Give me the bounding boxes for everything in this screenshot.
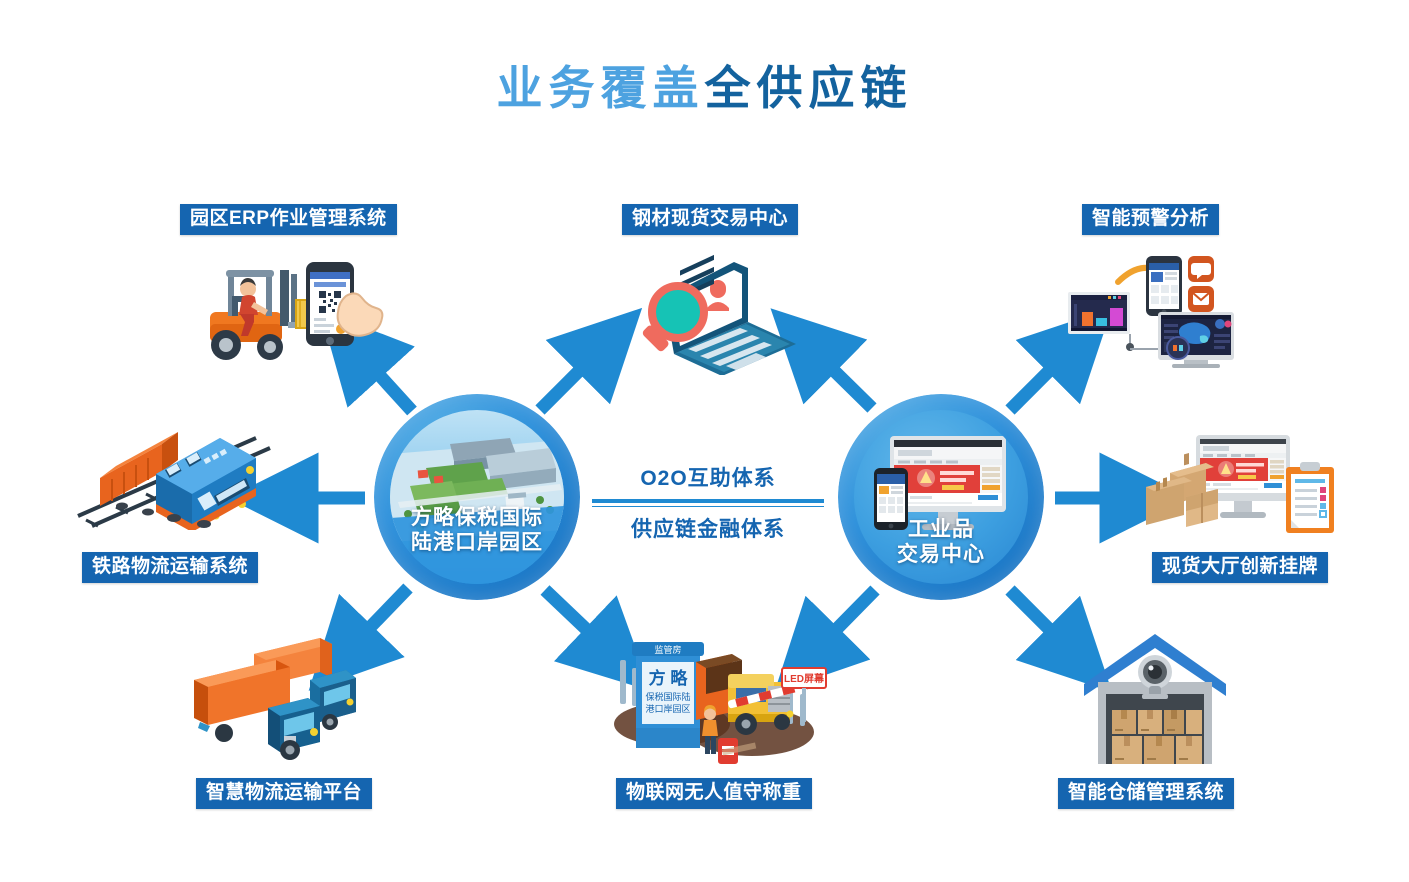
weighbridge-gate-truck-icon: 监管房 方 略 保税国际陆 港口岸园区 <box>600 628 830 768</box>
label-erp-text: 园区ERP作业管理系统 <box>190 208 387 229</box>
arrow-trade-to-steel <box>815 352 872 408</box>
arrow-trade-to-alert <box>1010 352 1068 410</box>
label-rail-logistics[interactable]: 铁路物流运输系统 <box>82 552 258 583</box>
arrow-hub-to-steel <box>540 352 598 410</box>
train-container-icon <box>70 400 290 530</box>
diagram-canvas: 业务覆盖全供应链 <box>0 0 1409 882</box>
label-smart-logistics[interactable]: 智慧物流运输平台 <box>196 778 372 809</box>
arrow-hub-to-weighing <box>545 590 606 648</box>
hub-inner <box>390 410 564 584</box>
label-steel-trading-text: 钢材现货交易中心 <box>632 208 788 229</box>
center-divider <box>592 499 824 507</box>
aerial-park-photo-icon <box>390 410 564 584</box>
laptop-magnifier-icon <box>630 250 810 375</box>
booth-line2-text: 保税国际陆 <box>645 691 690 702</box>
label-spot-hall-text: 现货大厅创新挂牌 <box>1162 556 1318 577</box>
trade-hub[interactable]: 工业品 交易中心 <box>838 394 1044 600</box>
center-text-block: O2O互助体系 供应链金融体系 <box>592 462 824 543</box>
arrow-trade-to-warehouse <box>1010 590 1068 648</box>
booth-line3-text: 港口岸园区 <box>645 703 690 714</box>
park-hub[interactable]: 方略保税国际 陆港口岸园区 <box>374 394 580 600</box>
label-alert-analysis-text: 智能预警分析 <box>1092 208 1209 229</box>
trade-hub-line2: 交易中心 <box>838 543 1044 568</box>
dashboard-alert-monitor-icon <box>1062 250 1242 370</box>
booth-brand-text: 方 略 <box>649 668 689 688</box>
label-rail-logistics-text: 铁路物流运输系统 <box>92 556 248 577</box>
trade-hub-line1: 工业品 <box>838 518 1044 543</box>
label-steel-trading[interactable]: 钢材现货交易中心 <box>622 204 798 235</box>
label-erp[interactable]: 园区ERP作业管理系统 <box>180 204 397 235</box>
label-alert-analysis[interactable]: 智能预警分析 <box>1082 204 1219 235</box>
box-trucks-icon <box>180 636 390 768</box>
forklift-qrcode-phone-icon <box>196 252 386 372</box>
label-spot-hall[interactable]: 现货大厅创新挂牌 <box>1152 552 1328 583</box>
center-bottom-text: 供应链金融体系 <box>592 513 824 543</box>
page-title-part2: 全供应链 <box>705 62 913 114</box>
label-smart-warehouse[interactable]: 智能仓储管理系统 <box>1058 778 1234 809</box>
trade-hub-text: 工业品 交易中心 <box>838 518 1044 568</box>
monitor-boxes-clipboard-icon <box>1140 425 1340 550</box>
page-title: 业务覆盖全供应链 <box>0 52 1409 118</box>
park-hub-text: 方略保税国际 陆港口岸园区 <box>374 506 580 556</box>
led-sign-text: LED屏幕 <box>784 672 825 685</box>
label-iot-weighing[interactable]: 物联网无人值守称重 <box>616 778 812 809</box>
label-iot-weighing-text: 物联网无人值守称重 <box>626 782 802 803</box>
page-title-part1: 业务覆盖 <box>497 62 705 114</box>
label-smart-warehouse-text: 智能仓储管理系统 <box>1068 782 1224 803</box>
label-smart-logistics-text: 智慧物流运输平台 <box>206 782 362 803</box>
center-top-text: O2O互助体系 <box>592 462 824 492</box>
park-hub-line2: 陆港口岸园区 <box>374 531 580 556</box>
booth-top-text: 监管房 <box>654 644 681 655</box>
park-hub-line1: 方略保税国际 <box>374 506 580 531</box>
warehouse-camera-boxes-icon <box>1080 632 1230 764</box>
